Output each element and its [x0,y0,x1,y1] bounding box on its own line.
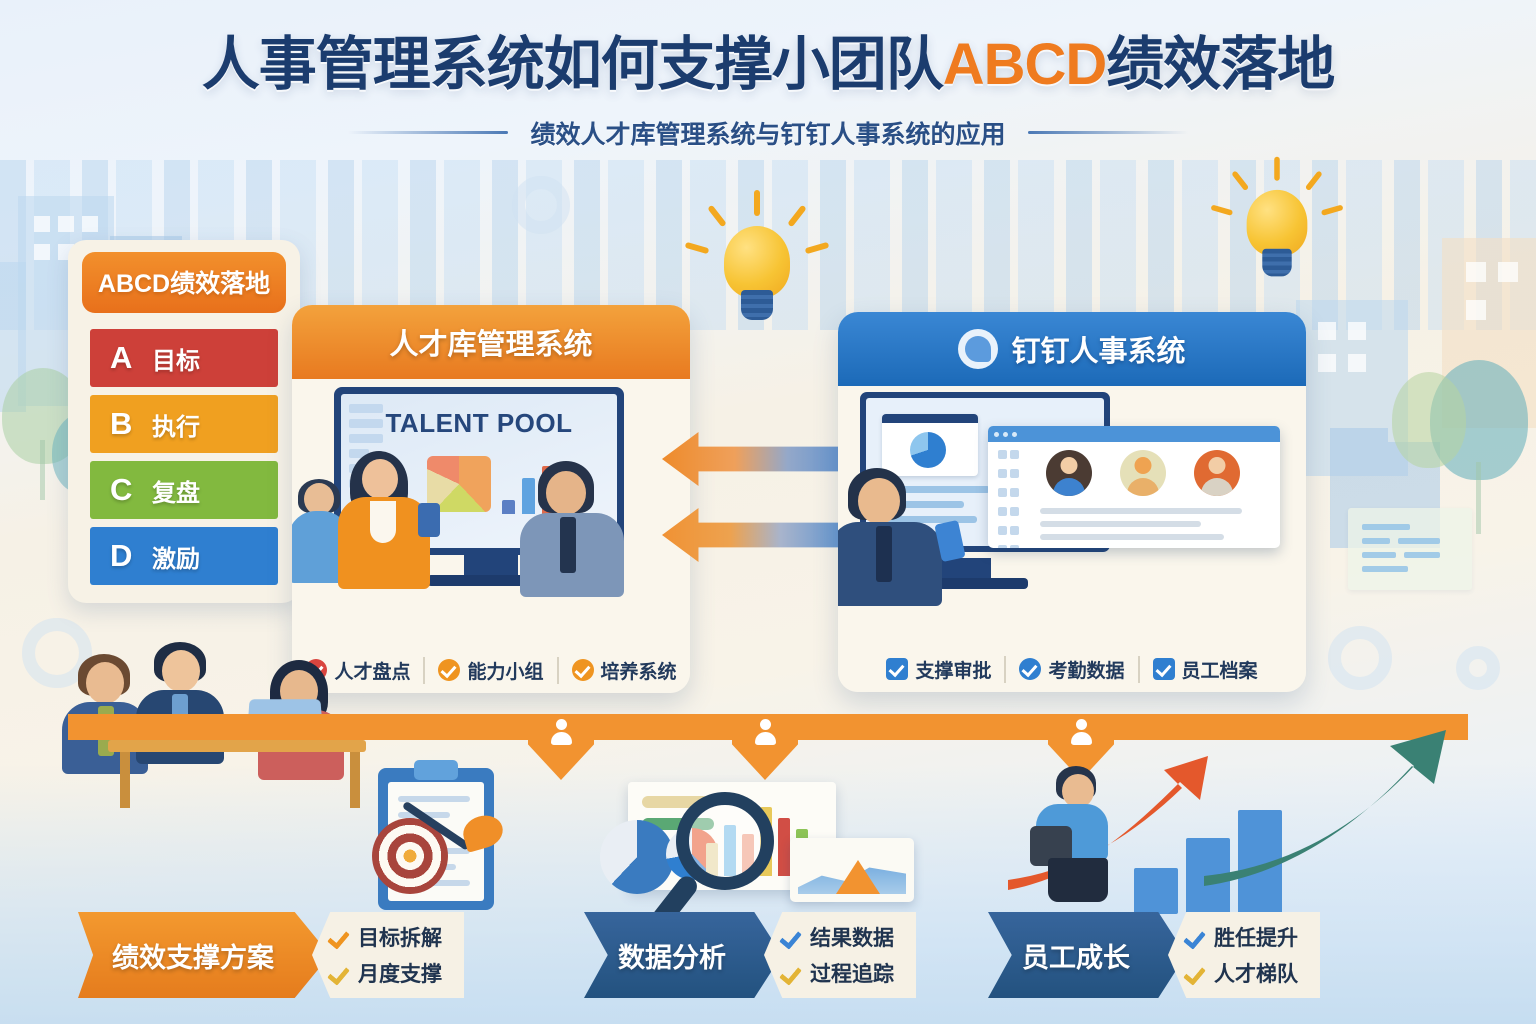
tag-label: 支撑审批 [915,656,991,683]
tag-capability-group[interactable]: 能力小组 [423,657,556,684]
avatar[interactable] [1120,450,1166,496]
panel-item-list: 胜任提升 人才梯队 [1168,912,1320,998]
table [108,740,366,752]
gear-icon [512,176,570,234]
dingtalk-hr-card-title: 钉钉人事系统 [838,312,1306,386]
bottom-panel-growth[interactable]: 员工成长 胜任提升 人才梯队 [988,912,1320,998]
card-title-text: 钉钉人事系统 [1011,328,1185,370]
subtitle-rule-right [1028,131,1188,134]
check-icon [572,659,594,681]
check-icon [780,963,801,984]
gear-icon [1328,626,1392,690]
abcd-row-b[interactable]: B 执行 [90,395,278,453]
talent-pool-card[interactable]: 人才库管理系统 TALENT POOL [292,305,690,693]
employee-browser-window [988,426,1280,548]
panel-item[interactable]: 过程追踪 [780,958,894,988]
abcd-letter-c: C [110,472,138,508]
panel-item-label: 胜任提升 [1214,922,1298,952]
tag-label: 考勤数据 [1048,656,1124,683]
abcd-panel: ABCD绩效落地 A 目标 B 执行 C 复盘 D 激励 [68,240,300,603]
title-part-2: 绩效落地 [1106,32,1334,97]
panel-title: 数据分析 [584,912,782,998]
abcd-letter-d: D [110,538,138,574]
check-icon [1184,927,1205,948]
page-title: 人事管理系统如何支撑小团队ABCD绩效落地 [0,34,1536,97]
magnifier-icon [676,792,774,890]
abcd-label-b: 执行 [152,407,200,442]
tag-approval-support[interactable]: 支撑审批 [873,656,1004,683]
panel-item-label: 目标拆解 [358,922,442,952]
panel-title: 员工成长 [988,912,1186,998]
avatar[interactable] [1194,450,1240,496]
panel-item[interactable]: 结果数据 [780,922,894,952]
donut-chart [910,432,946,468]
title-accent: ABCD [943,32,1107,97]
mini-window [882,414,978,476]
talent-pool-card-title: 人才库管理系统 [292,305,690,379]
dingtalk-hr-card[interactable]: 钉钉人事系统 [838,312,1306,692]
gear-icon [1456,646,1500,690]
panel-item-label: 过程追踪 [810,958,894,988]
panel-item[interactable]: 目标拆解 [328,922,442,952]
lightbulb-icon [1241,190,1313,280]
tag-attendance-data[interactable]: 考勤数据 [1004,656,1137,683]
abcd-row-c[interactable]: C 复盘 [90,461,278,519]
panel-item-label: 结果数据 [810,922,894,952]
tablet-chart [790,838,914,902]
growth-arrow-icon-secondary [1198,718,1498,898]
check-icon [328,927,349,948]
title-part-1: 人事管理系统如何支撑小团队 [202,32,943,97]
infographic-canvas: 人事管理系统如何支撑小团队ABCD绩效落地 绩效人才库管理系统与钉钉人事系统的应… [0,0,1536,1024]
employee-avatar-row [1046,450,1240,496]
panel-item-label: 月度支撑 [358,958,442,988]
pie-chart [600,820,674,894]
panel-title: 绩效支撑方案 [78,912,330,998]
abcd-letter-a: A [110,340,138,376]
lightbulb-icon [718,226,796,324]
abcd-row-a[interactable]: A 目标 [90,329,278,387]
abcd-label-d: 激励 [152,539,200,574]
panel-item[interactable]: 月度支撑 [328,958,442,988]
check-icon [1019,658,1041,680]
check-icon [780,927,801,948]
panel-item[interactable]: 人才梯队 [1184,958,1298,988]
browser-titlebar [988,426,1280,442]
abcd-panel-heading: ABCD绩效落地 [82,252,286,313]
check-icon [886,658,908,680]
panel-item-list: 结果数据 过程追踪 [764,912,916,998]
page-subtitle: 绩效人才库管理系统与钉钉人事系统的应用 [530,115,1005,151]
subtitle-rule-left [348,131,508,134]
panel-item[interactable]: 胜任提升 [1184,922,1298,952]
tag-training-system[interactable]: 培养系统 [557,657,690,684]
dingtalk-logo-icon [958,329,998,369]
header: 人事管理系统如何支撑小团队ABCD绩效落地 绩效人才库管理系统与钉钉人事系统的应… [0,34,1536,151]
talent-pool-illustration: TALENT POOL [292,379,690,647]
check-icon [1184,963,1205,984]
tag-label: 培养系统 [601,657,677,684]
tag-label: 能力小组 [467,657,543,684]
abcd-letter-b: B [110,406,138,442]
check-icon [328,963,349,984]
running-person-illustration [1014,766,1134,906]
bottom-panel-analytics[interactable]: 数据分析 结果数据 过程追踪 [584,912,916,998]
abcd-label-a: 目标 [152,341,200,376]
check-icon [1153,658,1175,680]
tag-employee-profile[interactable]: 员工档案 [1138,656,1271,683]
bottom-panel-performance[interactable]: 绩效支撑方案 目标拆解 月度支撑 [78,912,464,998]
panel-item-list: 目标拆解 月度支撑 [312,912,464,998]
abcd-label-c: 复盘 [152,473,200,508]
abcd-row-d[interactable]: D 激励 [90,527,278,585]
check-icon [438,659,460,681]
avatar[interactable] [1046,450,1092,496]
dingtalk-tag-list: 支撑审批 考勤数据 员工档案 [838,646,1306,692]
screen-title: TALENT POOL [341,408,617,439]
monitor-stand [464,555,518,577]
browser-sidebar-grid [998,450,1032,548]
tag-label: 员工档案 [1182,656,1258,683]
employee-table-rows [1040,508,1270,547]
panel-item-label: 人才梯队 [1214,958,1298,988]
dingtalk-hr-illustration [838,386,1306,646]
